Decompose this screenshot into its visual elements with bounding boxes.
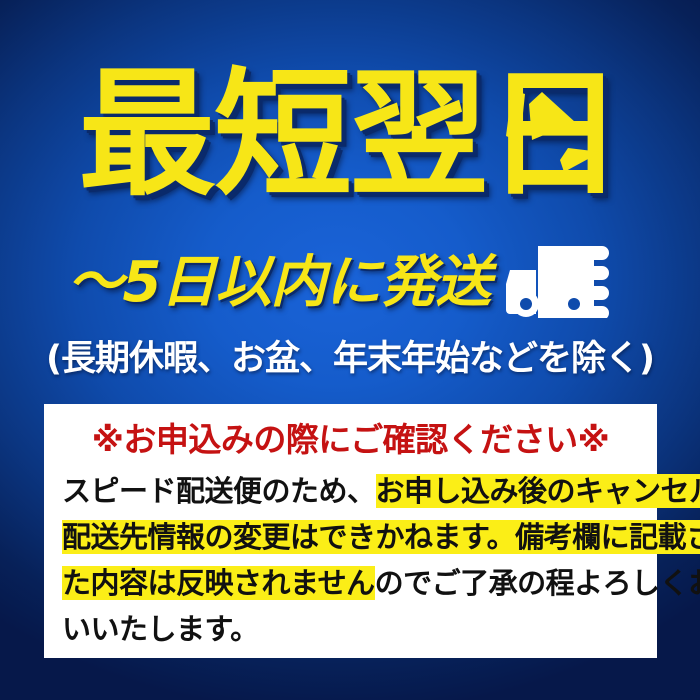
note-text: (長期休暇、お盆、年末年始などを除く) [0,336,700,382]
highlighted-text: お申し込み後のキャンセル・ [376,474,700,508]
plain-text: スピード配送便のため、 [62,474,376,508]
plain-text: のでご了承の程よろしくお願 [375,566,700,600]
highlighted-text: た内容は反映されません [62,566,375,600]
notice-card-body-line: 配送先情報の変更はできかねます。備考欄に記載され [62,514,639,560]
promo-banner: 最短翌日 ～5日以内に発送 [0,0,700,700]
highlighted-text: 配送先情報の変更はできかねます。備考欄に記載され [62,520,700,554]
delivery-truck-icon [504,244,632,318]
notice-card-heading: ※お申込みの際にご確認ください※ [62,414,639,466]
notice-card-body: スピード配送便のため、お申し込み後のキャンセル・配送先情報の変更はできかねます。… [62,468,639,652]
subheadline-text: ～5日以内に発送 [68,249,491,317]
notice-card-body-line: スピード配送便のため、お申し込み後のキャンセル・ [62,468,639,514]
notice-card: ※お申込みの際にご確認ください※ スピード配送便のため、お申し込み後のキャンセル… [44,404,657,658]
headline-text: 最短翌日 [0,60,700,210]
subheadline-block: ～5日以内に発送 [0,246,700,320]
notice-card-body-line: いいたします。 [62,606,639,652]
notice-card-body-line: た内容は反映されませんのでご了承の程よろしくお願 [62,560,639,606]
plain-text: いいたします。 [62,612,259,646]
headline-block: 最短翌日 [0,60,700,220]
